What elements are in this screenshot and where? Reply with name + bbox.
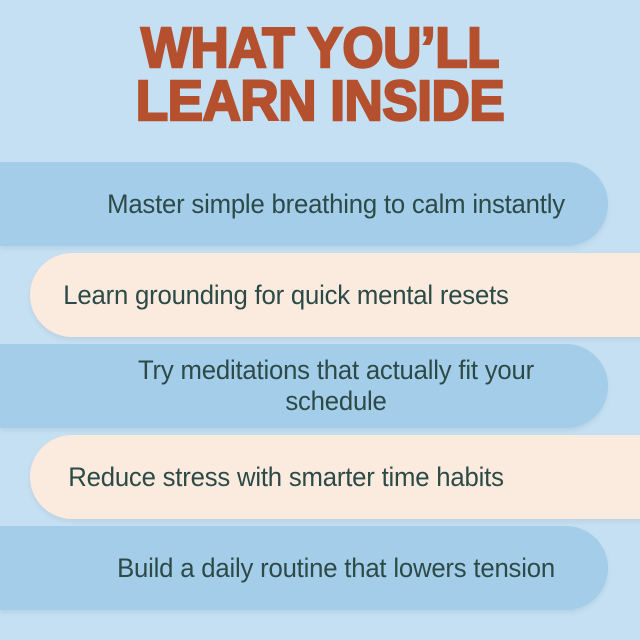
list-item-label: Try meditations that actually fit your s… — [94, 355, 579, 417]
list-item: Try meditations that actually fit your s… — [0, 344, 608, 428]
benefit-list: Master simple breathing to calm instantl… — [0, 162, 640, 617]
list-item: Master simple breathing to calm instantl… — [0, 162, 608, 246]
list-item: Reduce stress with smarter time habits — [30, 435, 640, 519]
poster-canvas: WHAT YOU’LL LEARN INSIDE Master simple b… — [0, 0, 640, 640]
title-line-2: LEARN INSIDE — [22, 75, 617, 128]
list-item-label: Build a daily routine that lowers tensio… — [94, 553, 579, 584]
list-item: Build a daily routine that lowers tensio… — [0, 526, 608, 610]
list-item-label: Learn grounding for quick mental resets — [44, 280, 529, 311]
list-item-label: Reduce stress with smarter time habits — [44, 462, 529, 493]
title-line-1: WHAT YOU’LL — [22, 22, 617, 75]
list-item: Learn grounding for quick mental resets — [30, 253, 640, 337]
page-title: WHAT YOU’LL LEARN INSIDE — [0, 22, 640, 128]
list-item-label: Master simple breathing to calm instantl… — [94, 189, 579, 220]
